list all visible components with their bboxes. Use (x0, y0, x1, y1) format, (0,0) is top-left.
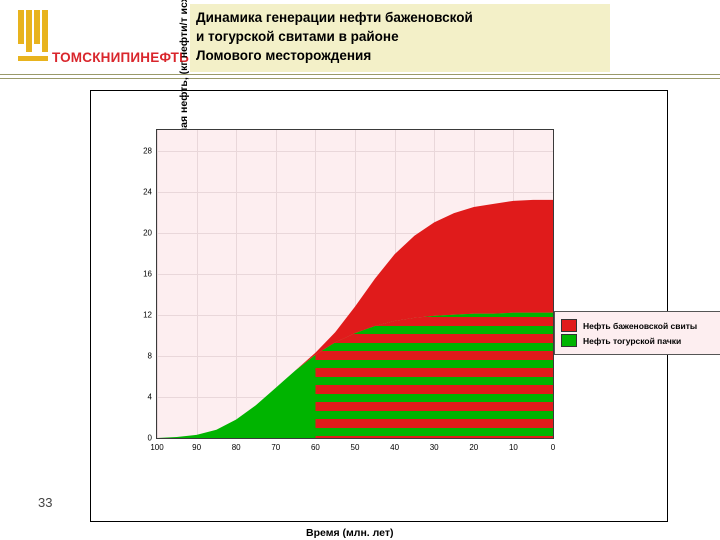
x-axis-tick-label: 50 (351, 443, 360, 452)
x-axis-tick-label: 90 (192, 443, 201, 452)
company-logo-icon (18, 10, 54, 52)
chart-legend: Нефть баженовской свиты Нефть тогурской … (554, 311, 720, 355)
slide-header: ТОМСКНИПИНЕФТЬ Динамика генерации нефти … (0, 0, 720, 84)
y-axis-tick-label: 20 (143, 228, 152, 237)
company-name: ТОМСКНИПИНЕФТЬ (52, 50, 189, 65)
x-axis-tick-label: 80 (232, 443, 241, 452)
y-axis-tick-label: 24 (143, 187, 152, 196)
slide-title-box: Динамика генерации нефти баженовской и т… (190, 4, 610, 72)
x-axis-tick-label: 30 (430, 443, 439, 452)
chart-container: Эмигрировавшая нефть, (кг нефти/т исходн… (90, 90, 668, 522)
x-axis-tick-label: 10 (509, 443, 518, 452)
x-axis-label: Время (млн. лет) (306, 527, 394, 539)
chart-series-layer (157, 130, 553, 438)
legend-label-togur: Нефть тогурской пачки (583, 336, 681, 346)
x-axis-tick-label: 70 (271, 443, 280, 452)
legend-swatch-togur (561, 334, 577, 347)
y-axis-tick-label: 8 (148, 351, 152, 360)
y-axis-tick-label: 4 (148, 392, 152, 401)
x-axis-tick-label: 40 (390, 443, 399, 452)
legend-label-bazhenov: Нефть баженовской свиты (583, 321, 697, 331)
page-title-line-1: Динамика генерации нефти баженовской (196, 8, 604, 27)
slide-number: 33 (38, 495, 52, 510)
header-divider-top (0, 74, 720, 75)
legend-swatch-bazhenov (561, 319, 577, 332)
page-title-line-3: Ломового месторождения (196, 46, 604, 65)
legend-item-bazhenov: Нефть баженовской свиты (561, 319, 715, 332)
y-axis-tick-label: 16 (143, 269, 152, 278)
plot-area (156, 129, 554, 439)
x-axis-tick-label: 0 (551, 443, 555, 452)
x-axis-tick-label: 20 (469, 443, 478, 452)
y-axis-tick-label: 12 (143, 310, 152, 319)
grid-line-vertical (553, 130, 554, 438)
plot-area-wrapper: Эмигрировавшая нефть, (кг нефти/т исходн… (156, 129, 554, 463)
x-axis-tick-label: 60 (311, 443, 320, 452)
x-axis-tick-label: 100 (150, 443, 163, 452)
legend-item-togur: Нефть тогурской пачки (561, 334, 715, 347)
y-axis-tick-label: 28 (143, 146, 152, 155)
page-title-line-2: и тогурской свитами в районе (196, 27, 604, 46)
y-axis-tick-label: 0 (148, 434, 152, 443)
header-divider-bottom (0, 78, 720, 79)
